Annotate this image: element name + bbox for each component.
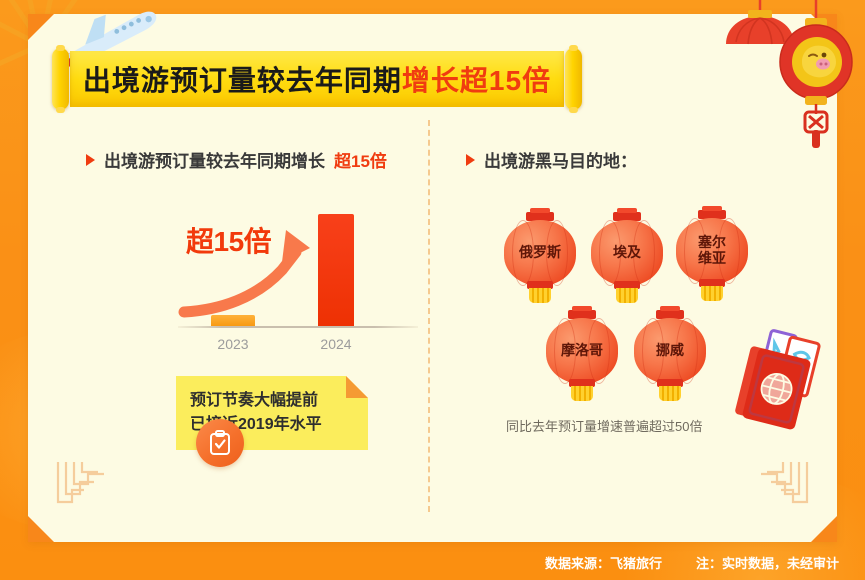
footer-disclaimer: 注：实时数据，未经审计 (696, 553, 839, 572)
corner-cut-bottom-left (28, 516, 54, 542)
lantern-label-line-1: 俄罗斯 (519, 245, 561, 261)
banner-title: 出境游预订量较去年同期增长超15倍 (52, 51, 582, 107)
title-banner: 出境游预订量较去年同期增长超15倍 (52, 48, 582, 110)
passport-tickets-icon (718, 319, 837, 439)
lantern-tassel (616, 288, 638, 303)
bullet-triangle-icon (466, 154, 475, 166)
section-divider (428, 120, 430, 512)
corner-ornament-bottom-left-icon (54, 458, 112, 516)
left-section-heading: 出境游预订量较去年同期增长超15倍 (86, 147, 387, 172)
growth-bar-chart: 超15倍 2023 2024 (178, 204, 428, 354)
corner-cut-bottom-right (811, 516, 837, 542)
lantern-label: 摩洛哥 (546, 318, 618, 384)
tick-label-2023: 2023 (203, 336, 263, 352)
left-heading-highlight: 超15倍 (334, 147, 387, 172)
footer-source: 数据来源：飞猪旅行 (545, 553, 662, 572)
bar-2023 (211, 315, 255, 326)
tick-label-2024: 2024 (306, 336, 366, 352)
lantern-tassel (659, 386, 681, 401)
destinations-note: 同比去年预订量增速普遍超过50倍 (506, 416, 702, 435)
clipboard-check-badge (196, 419, 244, 467)
destination-lanterns: 俄罗斯 埃及 塞 (498, 204, 748, 379)
hanging-lantern-decoration (720, 0, 865, 150)
lantern-label-line-1: 挪威 (656, 343, 684, 359)
lantern-label: 埃及 (591, 220, 663, 286)
lantern-tassel (571, 386, 593, 401)
lantern-label: 塞尔 维亚 (676, 218, 748, 284)
banner-title-plain: 出境游预订量较去年同期 (83, 59, 402, 99)
footer: 数据来源：飞猪旅行 注：实时数据，未经审计 (0, 544, 865, 580)
lantern-label: 俄罗斯 (504, 220, 576, 286)
clipboard-check-icon (208, 430, 232, 456)
callout-line-1: 预订节奏大幅提前 (190, 391, 368, 411)
left-heading-text: 出境游预订量较去年同期增长 (104, 147, 325, 172)
right-heading-text: 出境游黑马目的地： (484, 147, 637, 172)
chart-annotation: 超15倍 (186, 220, 271, 260)
lantern-label-line-1: 塞尔 (698, 235, 726, 251)
lantern-label: 挪威 (634, 318, 706, 384)
bar-2024 (318, 214, 354, 326)
lantern-tassel (701, 286, 723, 301)
banner-title-highlight: 增长超15倍 (402, 59, 551, 99)
bullet-triangle-icon (86, 154, 95, 166)
lantern-label-line-2: 维亚 (698, 251, 726, 267)
corner-ornament-bottom-right-icon (753, 458, 811, 516)
chart-baseline (178, 326, 418, 328)
right-section-heading: 出境游黑马目的地： (466, 147, 637, 172)
lantern-label-line-1: 埃及 (613, 245, 641, 261)
lantern-label-line-1: 摩洛哥 (561, 343, 603, 359)
lantern-tassel (529, 288, 551, 303)
